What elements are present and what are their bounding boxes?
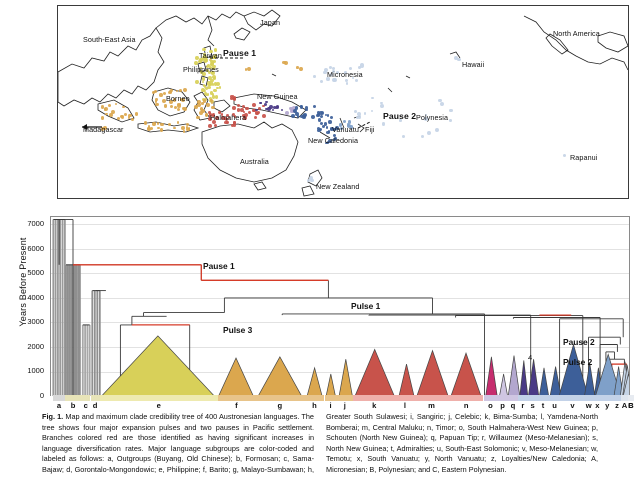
map-language-dot [183,130,186,133]
y-tick-5000: 5000 [14,268,44,277]
map-language-dot [207,86,210,89]
map-language-dot [120,115,123,118]
map-label-japan: Japan [260,18,280,27]
map-language-dot [311,115,315,119]
map-language-dot [299,67,303,71]
map-language-dot [330,116,333,119]
y-tick-3000: 3000 [14,317,44,326]
y-tick-1000: 1000 [14,366,44,375]
map-language-dot [177,104,181,108]
subgroup-letter-h: h [312,401,317,410]
map-language-dot [237,104,240,107]
map-language-dot [317,111,320,114]
map-language-dot [135,112,139,116]
map-language-dot [195,80,199,84]
clade-triangle-t [539,368,548,396]
map-language-dot [252,109,255,112]
map-language-dot [202,77,205,80]
subgroup-letter-x: x [595,401,599,410]
subgroup-letter-f: f [235,401,238,410]
map-language-dot [262,114,266,118]
map-label-madagascar: Madagascar [83,125,124,134]
map-language-dot [160,123,163,126]
map-label-halmahera: Halmahera [210,113,246,122]
map-language-dot [164,104,167,107]
map-language-dot [173,127,176,130]
clade-triangle-o [486,357,498,396]
subgroup-letter-A: A [622,401,627,410]
clade-triangle-k [355,349,394,396]
map-label-taiwan: Taiwan [199,51,222,60]
map-language-dot [457,58,461,62]
tree-annotation-pause-2: Pause 2 [563,337,595,347]
map-language-dot [183,88,187,92]
clade-triangle-r [520,360,528,396]
subgroup-letter-t: t [542,401,545,410]
map-language-dot [199,111,203,115]
map-language-dot [215,95,218,98]
map-coastlines [58,6,628,198]
map-label-new-zealand: New Zealand [316,182,359,191]
map-language-dot [128,116,131,119]
map-language-dot [248,111,251,114]
clade-triangle-e [102,336,215,396]
subgroup-letter-a: a [57,401,61,410]
y-tick-6000: 6000 [14,244,44,253]
map-language-dot [247,67,251,71]
subgroup-letter-r: r [521,401,524,410]
y-tick-0: 0 [14,391,44,400]
subgroup-letter-d: d [93,401,98,410]
subgroup-letter-b: b [71,401,76,410]
map-label-fiji: Fiji [365,125,375,134]
map-language-dot [181,126,185,130]
y-tick-4000: 4000 [14,293,44,302]
tree-annotation-pulse-3: Pulse 3 [223,325,252,335]
map-language-dot [211,106,215,110]
map-language-dot [427,131,431,135]
map-language-dot [260,102,263,105]
subgroup-letter-labels: abcdefghijklmnopqrstuvwxyzABC [50,401,628,411]
clade-triangle-h [307,368,322,396]
map-label-north-america: North America [553,29,600,38]
map-language-dot [240,108,244,112]
clade-triangle-i [326,374,335,396]
map-language-dot [326,126,329,129]
clade-triangle-g [258,357,301,396]
tree-annotation-4: 4 [528,353,532,362]
map-label-vanuatu: Vanuatu [332,125,359,134]
clade-triangle-m [417,351,448,396]
map-language-dot [360,63,364,67]
map-language-dot [449,119,452,122]
map-label-south-east-asia: South-East Asia [83,35,136,44]
map-language-dot [328,120,332,124]
map-language-dot [256,112,259,115]
map-language-dot [155,98,158,101]
subgroup-letter-n: n [464,401,469,410]
map-panel: South-East AsiaJapanTaiwanPhilippinesBor… [57,5,629,199]
subgroup-letter-y: y [605,401,609,410]
map-language-dot [254,116,257,119]
map-language-dot [155,103,159,107]
map-label-micronesia: Micronesia [327,70,363,79]
map-language-dot [438,99,441,102]
clade-triangle-w [585,363,595,396]
tree-panel: Years Before Present 7000600050004000300… [0,205,640,410]
map-language-dot [313,105,316,108]
map-language-dot [203,90,205,92]
map-label-new-caledonia: New Caledonia [308,136,358,145]
map-language-dot [213,89,217,93]
map-language-dot [435,128,439,132]
map-language-dot [295,106,299,110]
map-language-dot [157,127,159,129]
phylogenetic-tree [51,217,629,396]
map-language-dot [207,93,210,96]
map-language-dot [449,109,452,112]
map-language-dot [313,75,316,78]
figure-austronesian-map-and-tree: South-East AsiaJapanTaiwanPhilippinesBor… [0,0,640,480]
map-language-dot [186,128,190,132]
map-label-polynesia: Polynesia [416,113,448,122]
map-language-dot [296,66,299,69]
map-label-borneo: Borneo [166,94,190,103]
map-label-rapanui: Rapanui [570,153,597,162]
map-language-dot [295,112,299,116]
map-language-dot [273,106,276,109]
subgroup-letter-o: o [488,401,493,410]
map-label-australia: Australia [240,157,269,166]
map-language-dot [169,90,172,93]
clade-triangle-v [559,345,588,397]
subgroup-letter-v: v [570,401,574,410]
figure-caption: Fig. 1. Map and maximum clade credibilit… [42,412,598,475]
subgroup-letter-i: i [330,401,332,410]
map-pause-1-label: Pause 1 [223,48,256,58]
clade-triangle-s [528,359,538,396]
map-label-hawaii: Hawaii [462,60,484,69]
map-language-dot [380,104,384,108]
subgroup-letter-q: q [511,401,516,410]
subgroup-letter-w: w [586,401,592,410]
tree-annotation-pause-1: Pause 1 [203,261,235,271]
clade-triangle-f [219,358,254,396]
map-language-dot [201,102,204,105]
map-language-dot [326,131,330,135]
map-label-new-guinea: New Guinea [257,92,298,101]
clade-triangle-p [500,374,508,396]
subgroup-letter-e: e [157,401,161,410]
subgroup-letter-j: j [344,401,346,410]
map-language-dot [104,107,108,111]
map-language-dot [300,115,303,118]
map-language-dot [205,87,208,90]
clade-triangle-q [508,356,520,397]
map-label-philippines: Philippines [183,65,219,74]
clade-triangle-j [339,359,352,396]
y-tick-7000: 7000 [14,219,44,228]
subgroup-letter-g: g [277,401,282,410]
clade-triangle-n [451,353,481,396]
map-language-dot [322,125,325,128]
figure-number: Fig. 1. [42,412,63,421]
map-pause-2-label: Pause 2 [383,111,416,121]
map-language-dot [364,112,367,115]
subgroup-letter-s: s [530,401,534,410]
subgroup-letter-l: l [404,401,406,410]
subgroup-letter-z: z [615,401,619,410]
y-axis-ticks: 70006000500040003000200010000 [12,205,44,395]
subgroup-letter-c: c [84,401,88,410]
map-language-dot [232,106,236,110]
map-language-dot [231,124,234,127]
map-language-dot [285,111,289,115]
subgroup-letter-u: u [552,401,557,410]
subgroup-letter-p: p [500,401,505,410]
map-language-dot [109,113,113,117]
map-language-dot [206,103,210,107]
map-language-dot [168,123,171,126]
tree-annotation-pulse-2: Pulse 2 [563,357,592,367]
tree-annotation-pulse-1: Pulse 1 [351,301,380,311]
clade-triangle-l [399,364,414,396]
y-tick-2000: 2000 [14,342,44,351]
map-language-dot [252,103,256,107]
subgroup-letter-k: k [372,401,376,410]
map-language-dot [302,115,306,119]
map-language-dot [210,60,214,64]
map-language-dot [208,124,212,128]
map-language-dot [319,128,322,131]
subgroup-letter-m: m [428,401,435,410]
map-language-dot [147,127,151,131]
caption-text: Map and maximum clade credibility tree o… [42,412,598,474]
tree-plot-area: Pause 1Pulse 1Pulse 3Pause 2Pulse 24 [50,216,630,396]
subgroup-letter-C: C [628,401,633,410]
